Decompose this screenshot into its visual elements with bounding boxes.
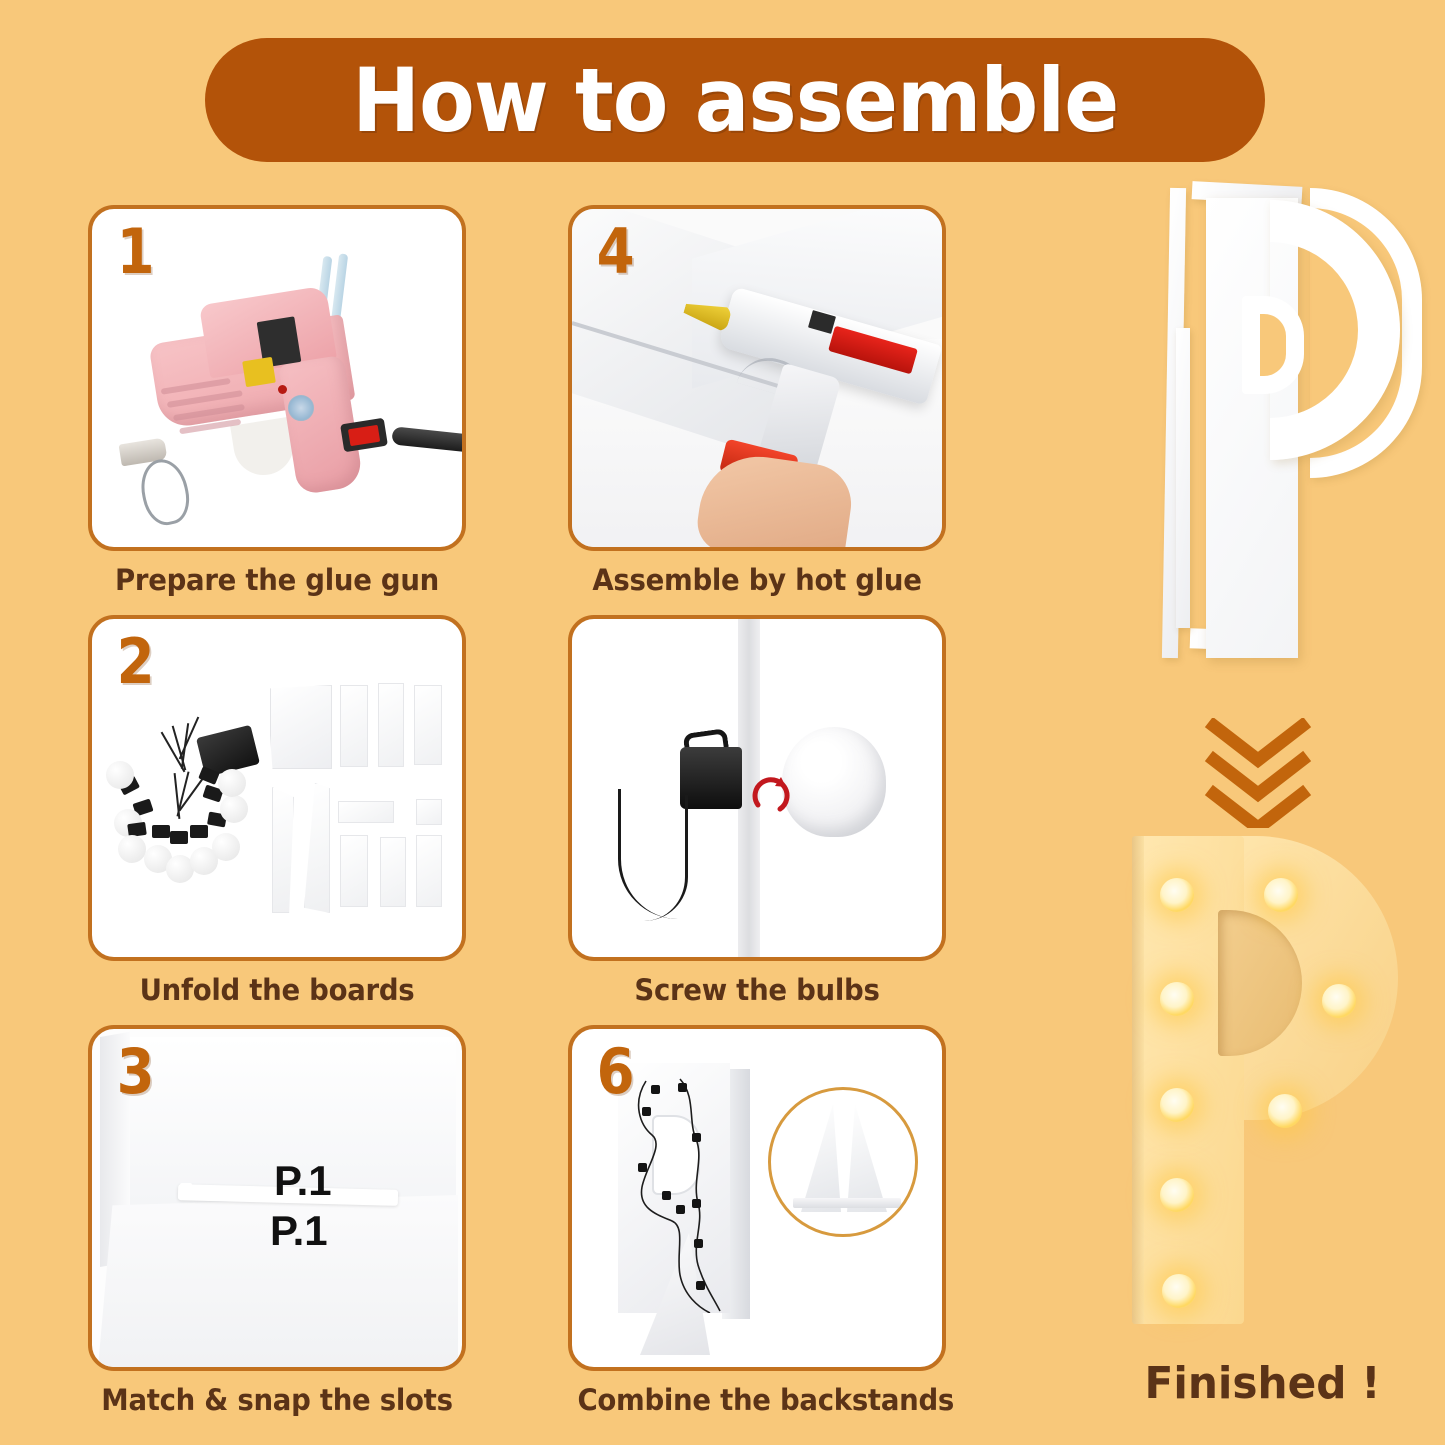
board-label-upper: P.1 [274,1157,332,1205]
assembled-letter-back [618,1063,748,1313]
bulb [1268,1094,1302,1128]
bulb [1264,878,1298,912]
step-1-image: 1 [88,205,466,551]
bulb [1160,1088,1194,1122]
light-wiring [618,1063,748,1313]
step-6-image: 6 [568,1025,946,1371]
bulb [1162,1274,1196,1308]
step-3-caption: Match & snap the slots [97,1383,456,1417]
step-1-caption: Prepare the glue gun [97,563,456,597]
steps-grid: 1 [88,205,958,1435]
side-wall-strip-inner [1176,328,1190,628]
gun-yellow-label [242,357,276,387]
letter-counter-hole [1242,296,1304,394]
step-5-caption: Screw the bulbs [577,973,936,1007]
board-label-lower: P.1 [270,1207,328,1255]
step-4-image: 4 [568,205,946,551]
gun-seal-sticker [288,395,314,421]
scene-bulb-screwing [572,619,942,957]
page-title: How to assemble [352,49,1118,152]
rotate-arrow-icon [750,771,794,819]
gun-power-cord [391,426,466,453]
finished-label: Finished ! [1087,1358,1437,1409]
step-4-number: 4 [597,219,635,284]
step-6-number: 6 [597,1039,635,1104]
gun-wire-stand [136,455,195,529]
gun-power-switch [340,418,388,453]
backstand-inset [768,1087,918,1237]
bulb [1160,982,1194,1016]
step-card-6: 6 [568,1025,946,1417]
step-2-number: 2 [117,629,155,694]
step-1-number: 1 [117,219,155,284]
step-5-image [568,615,946,961]
step-6-caption: Combine the backstands [577,1383,936,1417]
step-2-image: 2 [88,615,466,961]
step-3-image: 3 P.1 P.1 [88,1025,466,1371]
step-4-caption: Assemble by hot glue [577,563,936,597]
bulb [1322,984,1356,1018]
step-card-2: 2 [88,615,466,1007]
slot-notch [180,1183,192,1195]
step-card-5: Screw the bulbs [568,615,946,1007]
finished-letter-p [1132,836,1432,1336]
bulb-socket [680,747,742,809]
gun-indicator-light [278,385,287,394]
lit-letter-body [1132,836,1400,1324]
step-card-3: 3 P.1 P.1 Match & snap the slots [88,1025,466,1417]
flatpack-letter-p [1120,178,1420,678]
result-column: Finished ! [1080,0,1445,1445]
bulb [1160,1178,1194,1212]
bulb [1160,878,1194,912]
step-3-number: 3 [117,1039,155,1104]
step-card-1: 1 [88,205,466,597]
step-card-4: 4 Assemble by hot glue [568,205,946,597]
step-2-caption: Unfold the boards [97,973,456,1007]
led-bulb [782,727,886,837]
triple-chevron-down-icon [1198,718,1318,828]
